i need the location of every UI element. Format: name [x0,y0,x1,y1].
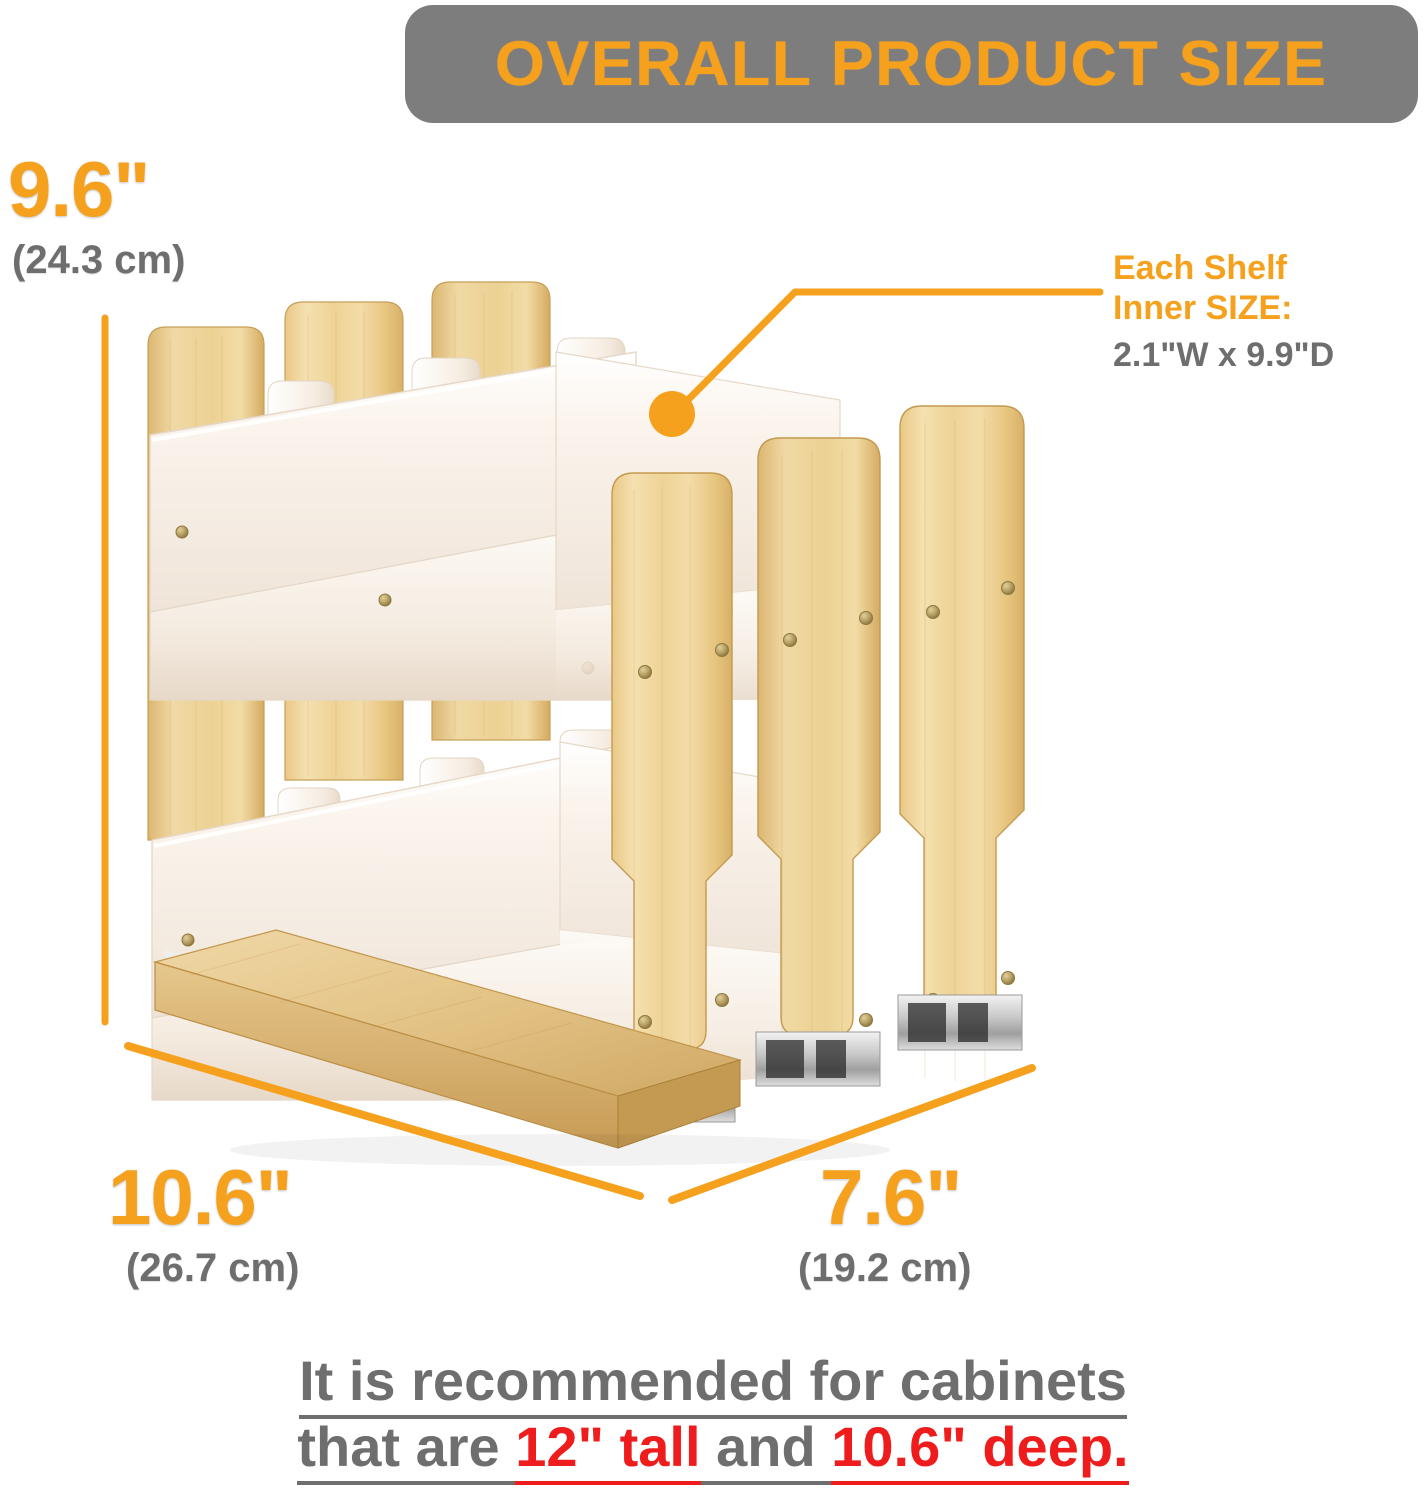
recommendation-block: It is recommended for cabinets that are … [0,1348,1426,1480]
recommendation-line-2: that are 12" tall and 10.6" deep. [0,1414,1426,1480]
height-inches-value: 9.6" [8,150,185,228]
callout-dot [649,391,695,437]
depth-dimension-label: 7.6" (19.2 cm) [820,1158,971,1288]
height-metric-value: (24.3 cm) [12,240,185,280]
recommendation-text-2b: and [701,1415,832,1485]
recommendation-text-2a: that are [297,1415,515,1485]
infographic-canvas: OVERALL PRODUCT SIZE 9.6" (24.3 cm) 10.6… [0,0,1426,1500]
height-dimension-label: 9.6" (24.3 cm) [8,150,185,280]
callout-size-value: 2.1"W x 9.9"D [1113,335,1334,375]
width-metric-value: (26.7 cm) [126,1248,299,1288]
recommendation-text-1: It is recommended for cabinets [299,1349,1127,1419]
depth-inches-value: 7.6" [820,1158,971,1236]
width-dimension-label: 10.6" (26.7 cm) [108,1158,299,1288]
callout-line-1: Each Shelf [1113,248,1334,288]
recommendation-depth-highlight: 10.6" deep. [831,1415,1128,1485]
header-banner: OVERALL PRODUCT SIZE [405,5,1418,123]
shelf-inner-size-callout: Each Shelf Inner SIZE: 2.1"W x 9.9"D [1113,248,1334,375]
callout-line-2: Inner SIZE: [1113,288,1334,328]
recommendation-height-highlight: 12" tall [515,1415,700,1485]
recommendation-line-1: It is recommended for cabinets [0,1348,1426,1414]
page-title: OVERALL PRODUCT SIZE [495,28,1328,100]
width-inches-value: 10.6" [108,1158,299,1236]
depth-metric-value: (19.2 cm) [798,1248,971,1288]
right-bamboo-walls [612,406,1024,1084]
